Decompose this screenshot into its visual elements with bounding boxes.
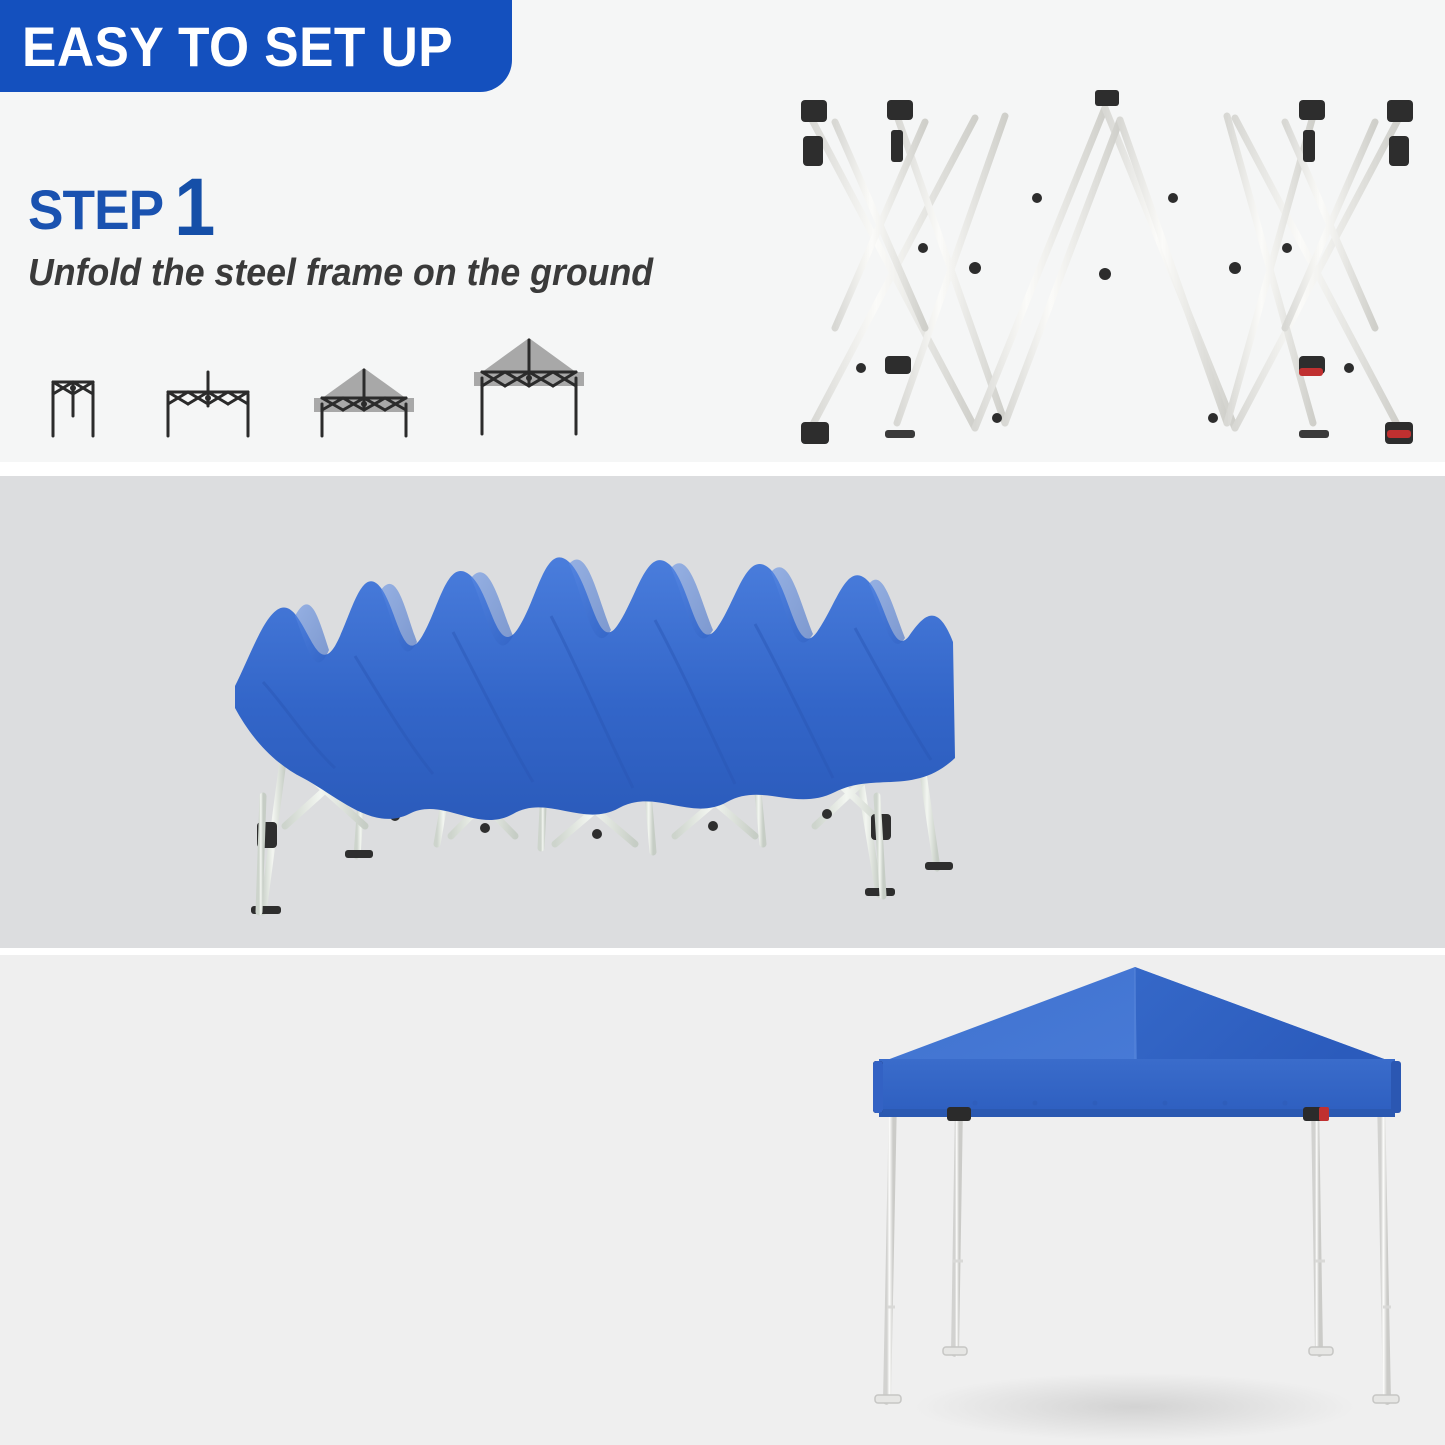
tent-icon-stage-3 [310,348,418,438]
header-banner: EASY TO SET UP [0,0,512,92]
step-1-label: STEP [28,182,163,238]
tent-icon-stage-2 [158,360,258,438]
canopy-draped-on-frame-photo [215,496,975,941]
step-1-text-block: STEP 1 Unfold the steel frame on the gro… [28,168,693,296]
step-2-panel: STEP 2 Fix the canopy with velcro [0,476,1445,948]
step-1-number: 1 [175,174,216,241]
panel-divider-2 [0,948,1445,955]
infographic-sheet: STEP 1 Unfold the steel frame on the gro… [0,0,1445,1445]
assembled-canopy-tent-photo [835,955,1435,1445]
step-1-description: Unfold the steel frame on the ground [28,250,653,296]
tent-icon-stage-1 [40,360,106,438]
panel-divider-1 [0,462,1445,476]
header-title: EASY TO SET UP [22,14,453,79]
step-1-heading: STEP 1 [28,168,693,238]
folded-steel-frame-photo [775,78,1435,462]
tent-assembly-icon-row [40,330,588,438]
tent-icon-stage-4 [470,330,588,438]
step-3-panel: STEP 3 Push up on the steel frame until … [0,955,1445,1445]
